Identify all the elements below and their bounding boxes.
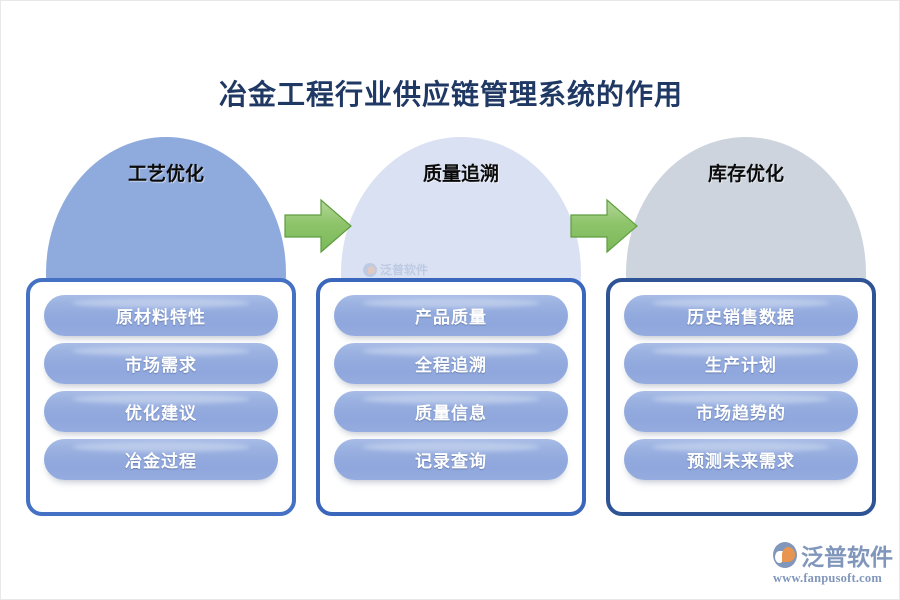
list-item[interactable]: 全程追溯	[334, 343, 568, 384]
diagram-canvas: 冶金工程行业供应链管理系统的作用 工艺优化 质量追溯 库存优化 泛普软件	[0, 0, 900, 600]
list-item-label: 产品质量	[415, 303, 487, 328]
list-item[interactable]: 质量信息	[334, 391, 568, 432]
list-item[interactable]: 冶金过程	[44, 439, 278, 480]
list-item-label: 优化建议	[125, 399, 197, 424]
page-title: 冶金工程行业供应链管理系统的作用	[1, 73, 900, 113]
stage-box-process-optimization: 原材料特性 市场需求 优化建议 冶金过程	[26, 278, 296, 516]
list-item-label: 质量信息	[415, 399, 487, 424]
right-arrow-icon	[283, 197, 353, 255]
brand-url: www.fanpusoft.com	[773, 571, 893, 586]
stage-box-quality-traceability: 产品质量 全程追溯 质量信息 记录查询	[316, 278, 586, 516]
stage-item-list: 产品质量 全程追溯 质量信息 记录查询	[334, 295, 568, 480]
list-item-label: 记录查询	[415, 447, 487, 472]
stage-item-list: 历史销售数据 生产计划 市场趋势的 预测未来需求	[624, 295, 858, 480]
stage-circle-label-3: 库存优化	[626, 159, 866, 186]
list-item-label: 原材料特性	[116, 303, 206, 328]
list-item-label: 全程追溯	[415, 351, 487, 376]
list-item-label: 市场需求	[125, 351, 197, 376]
brand-name: 泛普软件	[801, 538, 893, 572]
list-item[interactable]: 市场需求	[44, 343, 278, 384]
brand-row: 泛普软件	[773, 540, 893, 570]
list-item-label: 冶金过程	[125, 447, 197, 472]
list-item-label: 预测未来需求	[687, 447, 795, 472]
list-item[interactable]: 历史销售数据	[624, 295, 858, 336]
list-item[interactable]: 产品质量	[334, 295, 568, 336]
stage-circle-label-2: 质量追溯	[341, 159, 581, 186]
brand-logo: 泛普软件 www.fanpusoft.com	[773, 540, 893, 588]
list-item[interactable]: 原材料特性	[44, 295, 278, 336]
list-item-label: 历史销售数据	[687, 303, 795, 328]
stage-box-inventory-optimization: 历史销售数据 生产计划 市场趋势的 预测未来需求	[606, 278, 876, 516]
right-arrow-icon	[569, 197, 639, 255]
fanpu-logo-icon	[773, 542, 797, 568]
list-item[interactable]: 优化建议	[44, 391, 278, 432]
list-item[interactable]: 市场趋势的	[624, 391, 858, 432]
list-item-label: 生产计划	[705, 351, 777, 376]
stage-circle-label-1: 工艺优化	[46, 159, 286, 186]
list-item[interactable]: 生产计划	[624, 343, 858, 384]
list-item[interactable]: 预测未来需求	[624, 439, 858, 480]
list-item-label: 市场趋势的	[696, 399, 786, 424]
list-item[interactable]: 记录查询	[334, 439, 568, 480]
stage-item-list: 原材料特性 市场需求 优化建议 冶金过程	[44, 295, 278, 480]
